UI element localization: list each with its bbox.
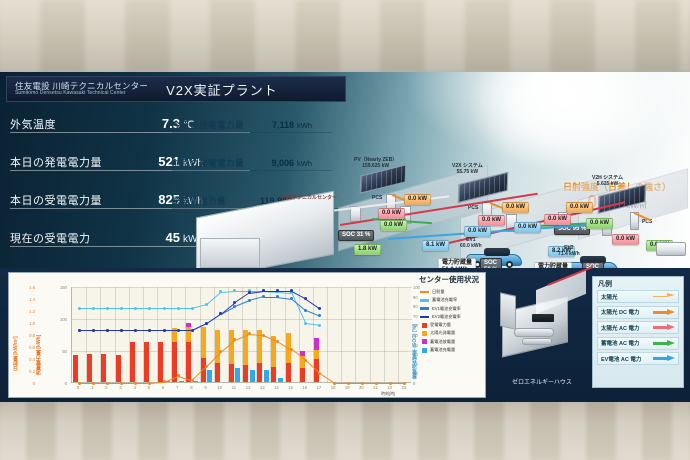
chart-xtick: 1 [87,385,97,390]
chart-bar-segment [130,342,135,382]
chart-bar-segment [144,342,149,382]
chart-line-point [318,314,321,317]
chart-bar-charge [179,381,184,382]
flow-tag-f1: 0.0 kW [404,194,431,205]
page-title: V2X実証プラント [166,80,278,99]
flow-tag-f10: 1.8 kW [354,244,381,255]
legend-arrow-icon [653,324,675,331]
chart-bar-segment [229,364,234,382]
legend-item-label: 蓄電池 AC 電力 [601,339,640,347]
chart-legend-swatch [422,348,427,353]
chart-xtick: 9 [201,385,211,390]
chart-legend-item-3: EV2電池充電率 [420,314,482,320]
chart-line-point [248,291,251,294]
chart-legend-label: 蓄電池放電量 [430,339,455,345]
chart-xtick: 14 [271,385,281,390]
chart-xtick: 11 [229,385,239,390]
chart-ylabel-consumption: 消費電力量 [kWh] [35,295,42,375]
background-bottom-blur [0,398,690,460]
chart-ytick-right: 20 [413,362,425,367]
chart-bar-segment [300,368,305,382]
chart-bar-segment [73,355,78,382]
chart-ytick-outer: 0.4 [25,357,35,362]
chart-ytick-inner: 100 [51,317,67,322]
chart-xtick: 22 [385,385,395,390]
house-wall-icon [500,292,516,329]
chart-line-segment [150,330,164,331]
chart-legend-item-1: 蓄電池充電率 [420,297,482,303]
chart-line-point [191,379,194,382]
chart-bar-segment [314,350,319,359]
flow-tag-f2: 0.0 kW [378,208,405,219]
chart-ytick-outer: 1.4 [25,297,35,302]
company-name: 住友電設 川崎テクニカルセンター Sumitomo Densetsu Kawas… [15,82,148,96]
chart-ytick-outer: 0.2 [25,369,35,374]
flow-tag-f7: 0.0 kW [514,222,541,233]
chart-line-point [134,329,137,332]
chart-bar-charge [250,370,255,382]
chart-bar-segment [314,338,319,350]
legend-title: 凡例 [593,277,683,290]
chart-xtick: 16 [300,385,310,390]
chart-ytick-outer: 1.2 [25,309,35,314]
chart-line-point [120,329,123,332]
chart-legend-swatch [420,299,429,302]
chart-xtick: 10 [215,385,225,390]
chart-bar-segment [186,342,191,382]
chart-ytick-inner: 150 [51,285,67,290]
chart-ylabel-irradiance: 日射量 [kW/m²] [12,299,19,371]
chart-line-point [233,301,236,304]
chart-legend-swatch [420,291,429,294]
chart-bar-segment [87,354,92,382]
chart-legend-item-6: 蓄電池放電量 [420,339,482,345]
metric-prev-month-generation: 前月の発電電力量 9,006 kWh [172,157,332,169]
chart-line-point [304,309,307,312]
zeh-caption: ゼロエネルギーハウス [492,377,592,386]
chart-ytick-outer: 0.6 [25,345,35,350]
chart-bar-segment [229,330,234,365]
monitor-screen: 住友電設 川崎テクニカルセンター Sumitomo Densetsu Kawas… [0,72,690,402]
chart-line-point [106,329,109,332]
dashboard-lower: センター使用状況 日射量 [kW/m²] 消費電力量 [kWh] 蓄電池充電率 … [0,268,690,402]
chart-ytick-outer: 1.6 [25,285,35,290]
chart-line-point [318,307,321,310]
chart-legend-label: 日射量 [432,289,445,295]
house-unit-icon [522,338,552,345]
chart-xtick: 0 [73,385,83,390]
chart-legend-item-4: 受電電力量 [420,322,482,328]
chart-legend-label: 蓄電池充電率 [432,297,457,303]
chart-legend-label: 受電電力量 [430,322,451,328]
chart-legend-swatch [420,316,429,319]
legend-item-label: 太陽光 [601,293,618,301]
chart-line-point [219,350,222,353]
chart-line-point [120,307,123,310]
flow-tag-f4: 0.0 kW [502,202,529,213]
chart-line-segment [150,382,164,384]
chart-line-point [318,324,321,327]
chart-xtick: 8 [186,385,196,390]
legend-item-2: 太陽光 AC 電力 [597,321,679,334]
house-battery-icon [514,328,554,337]
chart-gridline-v [327,287,328,383]
center-building-wing-icon [200,238,260,268]
chart-bar-segment [243,365,248,382]
chart-legend-item-2: EV1電池充電率 [420,306,482,312]
plant-diagram: PV（Nearly ZEB）159.625 kW V2X システム55.75 k… [330,158,690,268]
metric-rule-6 [172,170,332,171]
sun-glow-icon [470,72,660,172]
flow-tag-f3: 0.0 kW [380,220,407,231]
metric-month-generation: 今月の発電電力量 7,118 kWh [172,119,332,131]
chart-gridline-v [398,287,399,383]
chart-bar-charge [278,378,283,382]
chart-line-point [290,348,293,351]
title-bar: 住友電設 川崎テクニカルセンター Sumitomo Densetsu Kawas… [6,76,346,102]
chart-line-point [92,307,95,310]
chart-xtick: 5 [144,385,154,390]
chart-legend-label: 蓄電池充電量 [430,347,455,353]
chart-line-point [163,329,166,332]
battery-soc-tag: SOC 31 % [338,230,374,241]
building-name-label: 川崎テクニカルセンター [282,196,337,202]
chart-xtick: 12 [243,385,253,390]
flow-tag-f11: 8.1 kW [422,240,449,251]
chart-bar-segment [286,363,291,382]
chart-bar-segment [116,355,121,382]
chart-gridline-v [384,287,385,383]
chart-gridline-h [72,319,412,320]
flow-tag-f8: 0.0 kW [566,202,593,213]
chart-gridline-v [341,287,342,383]
chart-xtick: 19 [342,385,352,390]
chart-ytick-outer: 1.0 [25,321,35,326]
flow-tag-f5: 0.0 kW [478,215,505,226]
legend-rows: 太陽光太陽光 DC 電力太陽光 AC 電力蓄電池 AC 電力EV電池 AC 電力 [593,290,683,365]
chart-bar-segment [158,342,163,382]
chart-gridline-v [370,287,371,383]
chart-line-point [78,329,81,332]
zero-energy-house: ゼロエネルギーハウス [492,280,592,392]
dashboard-upper: 住友電設 川崎テクニカルセンター Sumitomo Densetsu Kawas… [0,72,690,268]
legend-arrow-icon [653,293,675,300]
legend-item-3: 蓄電池 AC 電力 [597,337,679,350]
chart-legend-label: 太陽光発電量 [430,330,455,336]
chart-xtick: 7 [172,385,182,390]
legend-arrow-icon [653,355,675,362]
chart-line-segment [235,291,249,292]
screenshot-root: 住友電設 川崎テクニカルセンター Sumitomo Densetsu Kawas… [0,0,690,460]
chart-line-point [233,338,236,341]
legend-item-1: 太陽光 DC 電力 [597,306,679,319]
legend-item-label: EV電池 AC 電力 [601,355,641,363]
chart-legend-item-7: 蓄電池充電量 [420,347,482,353]
chart-legend-swatch [422,331,427,336]
flow-tag-f9: 0.0 kW [544,214,571,225]
legend-item-4: EV電池 AC 電力 [597,352,679,365]
chart-ytick-inner: 0 [51,381,67,386]
chart-xtick: 6 [158,385,168,390]
chart-legend-item-0: 日射量 [420,289,482,295]
ev2-label: EV271.4 kWh [558,246,580,258]
chart-xtick: 2 [101,385,111,390]
ev1-label: EV160.0 kWh [460,238,482,250]
chart-xtick: 21 [371,385,381,390]
chart-line-point [205,303,208,306]
chart-ytick-right: 10 [413,371,425,376]
legend-arrow-icon [653,340,675,347]
chart-line-point [304,322,307,325]
generator-icon [656,242,686,256]
chart-line-point [205,365,208,368]
chart-line-point [163,380,166,383]
chart-xtick: 23 [399,385,409,390]
chart-xlabel: 時刻[時] [381,391,395,397]
legend-item-0: 太陽光 [597,290,679,303]
chart-line-point [191,329,194,332]
legend-panel: 凡例 太陽光太陽光 DC 電力太陽光 AC 電力蓄電池 AC 電力EV電池 AC… [592,276,684,388]
flow-tag-f6: 0.0 kW [464,226,491,237]
chart-bar-segment [271,367,276,382]
pcs-3-label: PCS [642,220,652,226]
chart-gridline-h [72,287,412,288]
chart-ytick-inner: 50 [51,349,67,354]
chart-line-point [163,307,166,310]
chart-line-point [304,359,307,362]
chart-ytick-outer: 0 [25,381,35,386]
chart-line-point [248,332,251,335]
pv-label: PV（Nearly ZEB）159.625 kW [354,158,397,170]
chart-legend-label: EV2電池充電率 [432,314,461,320]
chart-line-segment [150,308,164,309]
chart-xtick: 4 [130,385,140,390]
usage-chart: センター使用状況 日射量 [kW/m²] 消費電力量 [kWh] 蓄電池充電率 … [8,272,486,398]
chart-ytick-right: 0 [413,381,425,386]
chart-xtick: 3 [116,385,126,390]
chart-bar-segment [257,363,262,382]
house-display-icon [532,314,554,322]
chart-xtick: 13 [257,385,267,390]
background-top-blur [0,0,690,72]
chart-ytick-outer: 0.8 [25,333,35,338]
chart-bar-segment [186,323,191,327]
chart-line-point [106,307,109,310]
chart-line-point [177,329,180,332]
chart-xtick: 18 [328,385,338,390]
chart-legend-item-5: 太陽光発電量 [420,330,482,336]
chart-bar-segment [101,354,106,382]
chart-legend-swatch [420,307,429,310]
legend-item-label: 太陽光 DC 電力 [601,308,640,316]
pcs-1-label: PCS [372,196,382,202]
flow-tag-f14: 0.0 kW [612,234,639,245]
chart-bar-segment [201,327,206,358]
chart-legend-swatch [422,339,427,344]
flow-tag-f13: 0.0 kW [586,218,613,229]
pcs-2-label: PCS [468,206,478,212]
chart-bar-charge [235,368,240,382]
chart-line-point [191,307,194,310]
chart-gridline-h [72,351,412,352]
chart-line-point [205,322,208,325]
legend-arrow-icon [653,309,675,316]
v2x-label: V2X システム55.75 kW [452,164,483,176]
chart-line-point [134,307,137,310]
chart-gridline-v [355,287,356,383]
chart-xtick: 17 [314,385,324,390]
chart-line-point [276,340,279,343]
chart-line-point [78,307,81,310]
chart-line-point [219,312,222,315]
chart-line-point [92,329,95,332]
v2h-label: V2H システム5.625 kW [592,176,623,188]
chart-line-point [276,295,279,298]
chart-xtick: 15 [286,385,296,390]
chart-bar-charge [207,370,212,382]
chart-xtick: 20 [356,385,366,390]
chart-bar-charge [264,370,269,382]
chart-line-point [177,307,180,310]
chart-line-point [248,299,251,302]
chart-legend: 日射量蓄電池充電率EV1電池充電率EV2電池充電率受電電力量太陽光発電量蓄電池放… [420,289,482,355]
metric-rule-5 [172,132,332,133]
chart-legend-label: EV1電池充電率 [432,306,461,312]
chart-line-point [262,295,265,298]
legend-item-label: 太陽光 AC 電力 [601,324,640,332]
chart-title: センター使用状況 [419,274,479,285]
chart-legend-swatch [422,323,427,328]
chart-line-point [262,334,265,337]
chart-bar-segment [215,363,220,382]
chart-plot-area [71,287,411,383]
